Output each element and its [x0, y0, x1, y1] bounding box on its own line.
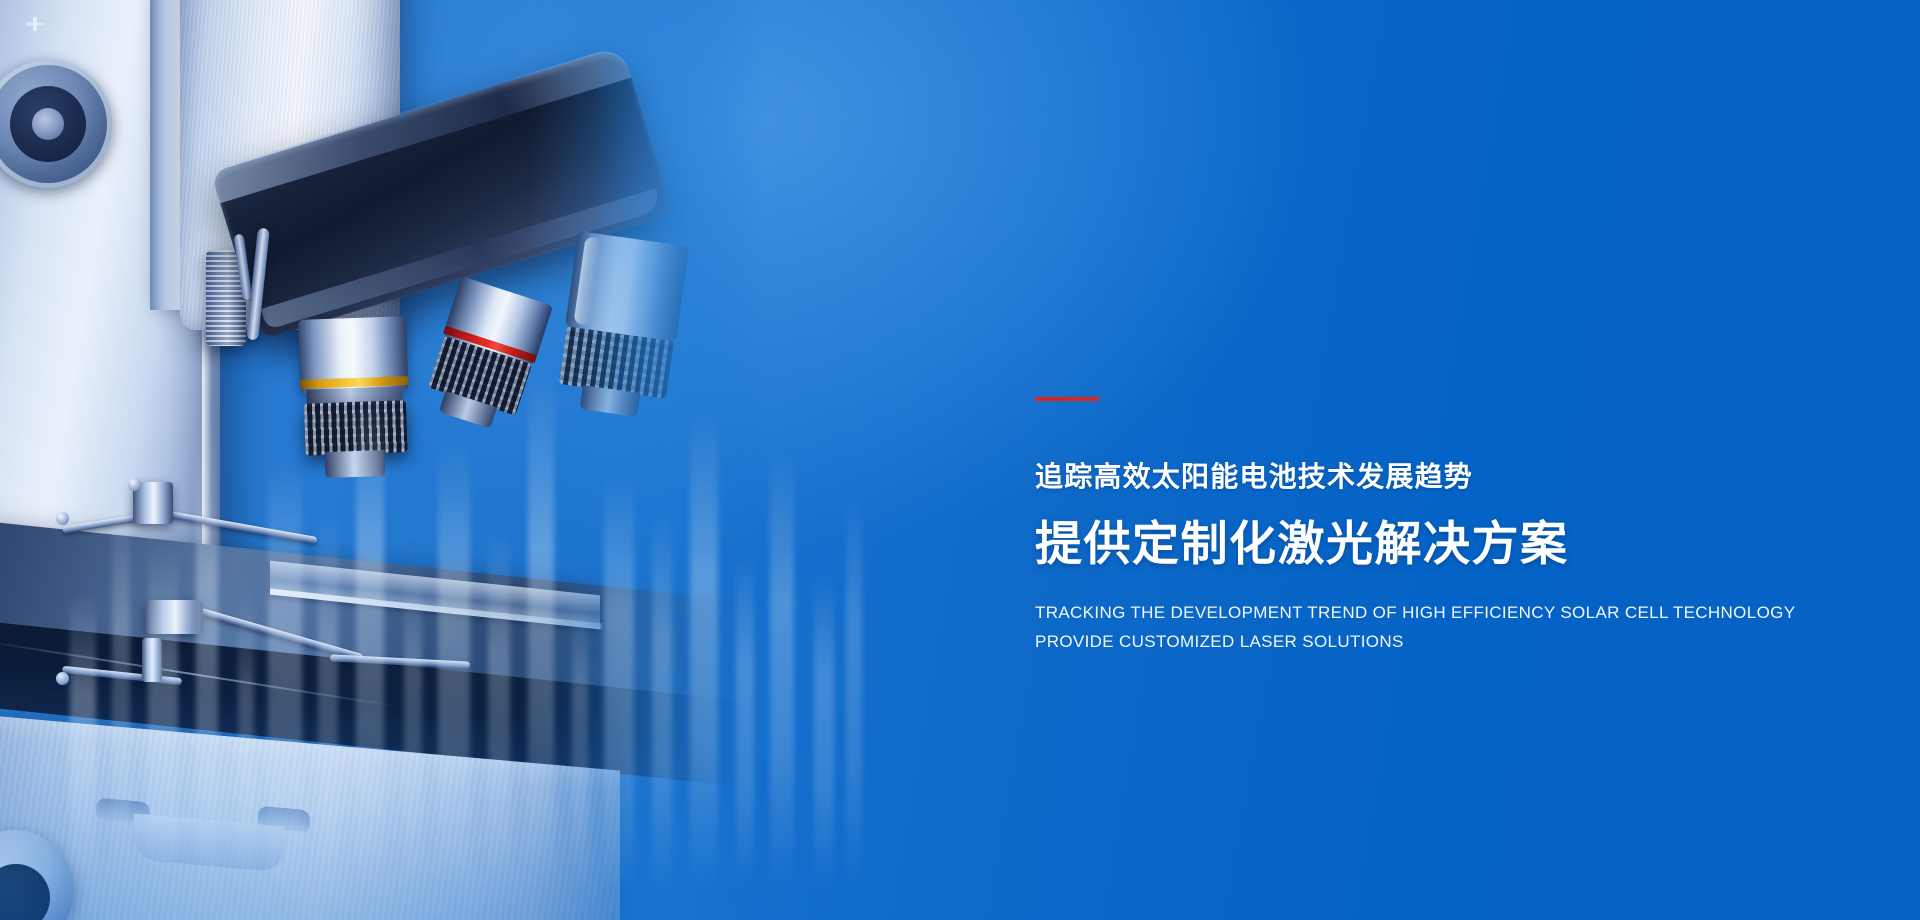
- light-streak: [604, 470, 634, 890]
- light-streak: [814, 570, 834, 890]
- light-streak: [690, 410, 718, 890]
- hero-headline: 提供定制化激光解决方案: [1035, 513, 1895, 575]
- light-streak: [488, 530, 510, 890]
- light-streak: [268, 460, 302, 890]
- hero-subtitle-line-1: TRACKING THE DEVELOPMENT TREND OF HIGH E…: [1035, 601, 1895, 625]
- hero-subtitle-line-2: PROVIDE CUSTOMIZED LASER SOLUTIONS: [1035, 630, 1895, 654]
- light-streak: [318, 510, 338, 890]
- light-streak: [528, 370, 554, 890]
- light-streak: [652, 510, 672, 890]
- hero-banner: 追踪高效太阳能电池技术发展趋势 提供定制化激光解决方案 TRACKING THE…: [0, 0, 1920, 920]
- light-streak: [404, 560, 422, 890]
- light-streak: [438, 440, 470, 890]
- light-streak: [238, 590, 254, 890]
- light-streak: [112, 490, 130, 890]
- light-streak: [148, 540, 178, 890]
- light-streak: [736, 550, 754, 890]
- light-streak: [70, 590, 96, 890]
- accent-rule: [1035, 397, 1099, 401]
- screw-head-cross: [26, 17, 44, 31]
- light-streak: [846, 490, 862, 890]
- hero-eyebrow: 追踪高效太阳能电池技术发展趋势: [1035, 459, 1895, 495]
- arm-screw-icon: [0, 60, 112, 188]
- background-light-streaks: [60, 270, 880, 890]
- light-streak: [770, 450, 794, 890]
- light-streak: [196, 420, 218, 890]
- hero-text-block: 追踪高效太阳能电池技术发展趋势 提供定制化激光解决方案 TRACKING THE…: [1035, 0, 1895, 920]
- light-streak: [356, 390, 384, 890]
- light-streak: [572, 590, 588, 890]
